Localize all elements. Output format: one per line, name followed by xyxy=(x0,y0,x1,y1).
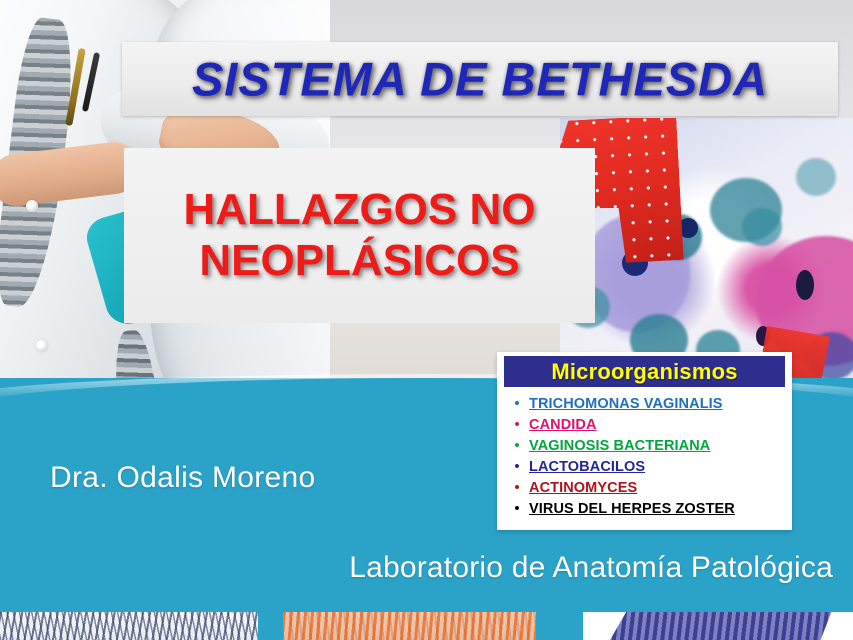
title-plate: SISTEMA DE BETHESDA xyxy=(122,42,838,116)
list-item-label: TRICHOMONAS VAGINALIS xyxy=(529,396,723,412)
list-item: • TRICHOMONAS VAGINALIS xyxy=(505,394,784,414)
bullet-icon: • xyxy=(505,436,529,456)
list-item-label: VIRUS DEL HERPES ZOSTER xyxy=(529,501,735,517)
histology-thumbnail-1 xyxy=(0,612,258,640)
list-item: • VIRUS DEL HERPES ZOSTER xyxy=(505,499,784,519)
list-item-label: LACTOBACILOS xyxy=(529,459,645,475)
histology-thumbnail-2 xyxy=(283,612,536,640)
microorganisms-header: Microorganismos xyxy=(504,356,785,387)
bullet-icon: • xyxy=(505,415,529,435)
microorganisms-header-label: Microorganismos xyxy=(551,359,737,385)
microorganisms-card: Microorganismos • TRICHOMONAS VAGINALIS … xyxy=(497,352,792,530)
subtitle-line-1: HALLAZGOS NO xyxy=(124,184,595,236)
department-name: Laboratorio de Anatomía Patológica xyxy=(349,551,833,585)
list-item: • CANDIDA xyxy=(505,415,784,435)
coat-button xyxy=(26,200,38,212)
presentation-slide: SISTEMA DE BETHESDA HALLAZGOS NO NEOPLÁS… xyxy=(0,0,853,640)
list-item-label: ACTINOMYCES xyxy=(529,480,637,496)
bullet-icon: • xyxy=(505,394,529,414)
bullet-icon: • xyxy=(505,457,529,477)
bullet-icon: • xyxy=(505,499,529,519)
subtitle-line-2: NEOPLÁSICOS xyxy=(124,236,595,288)
bullet-icon: • xyxy=(505,478,529,498)
list-item: • VAGINOSIS BACTERIANA xyxy=(505,436,784,456)
page-title: SISTEMA DE BETHESDA xyxy=(122,52,838,107)
subtitle-plate: HALLAZGOS NO NEOPLÁSICOS xyxy=(124,148,595,323)
presenter-name: Dra. Odalis Moreno xyxy=(50,461,316,495)
list-item: • LACTOBACILOS xyxy=(505,457,784,477)
subtitle-block: HALLAZGOS NO NEOPLÁSICOS xyxy=(124,184,595,288)
list-item: • ACTINOMYCES xyxy=(505,478,784,498)
histology-thumbnail-3 xyxy=(583,612,853,640)
coat-button xyxy=(36,340,48,352)
microorganisms-list: • TRICHOMONAS VAGINALIS • CANDIDA • VAGI… xyxy=(505,394,784,520)
list-item-label: VAGINOSIS BACTERIANA xyxy=(529,438,710,454)
list-item-label: CANDIDA xyxy=(529,417,597,433)
